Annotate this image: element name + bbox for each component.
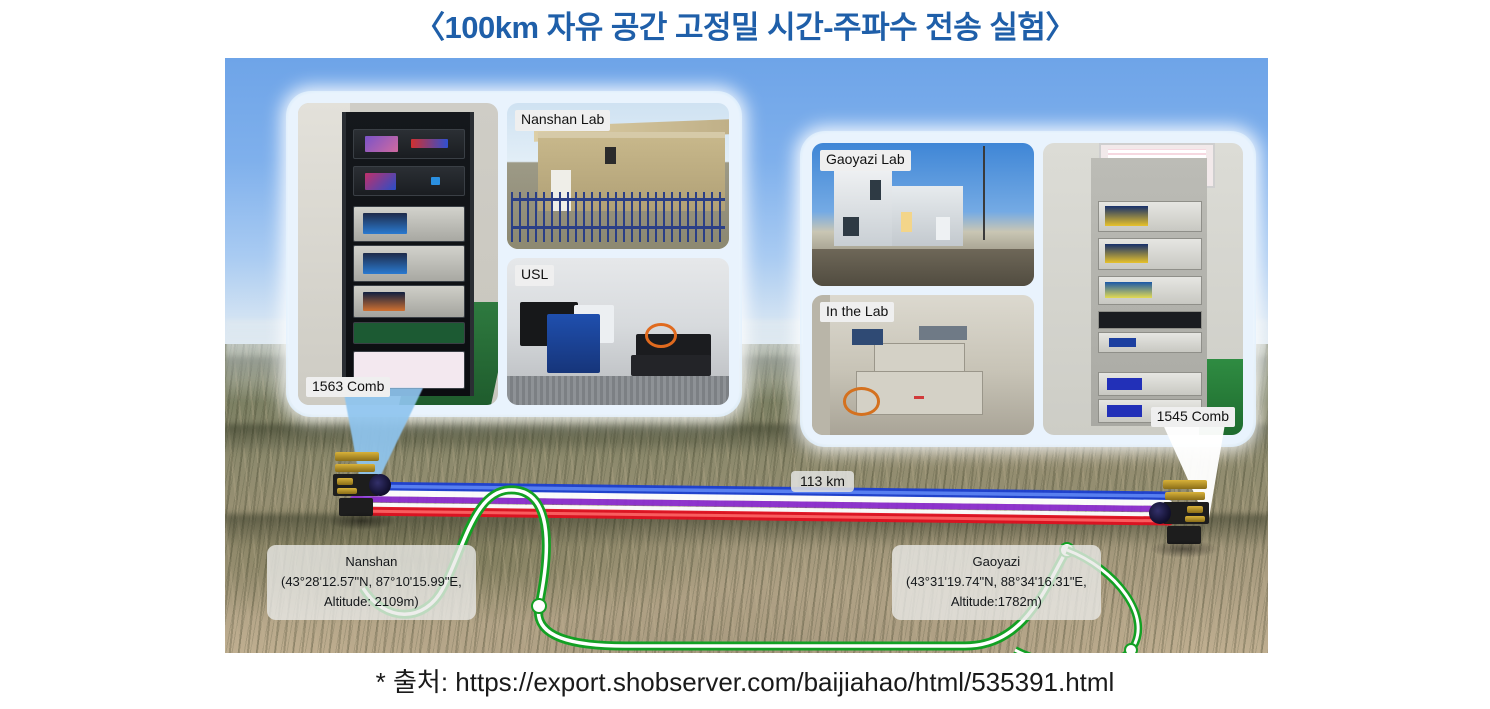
site-coordinates: (43°28'12.57"N, 87°10'15.99"E, [281,572,462,592]
site-altitude: Altitude: 2109m) [281,592,462,612]
site-coordinates: (43°31'19.74"N, 88°34'16.31"E, [906,572,1087,592]
experiment-figure: 113 km [225,58,1268,653]
nanshan-rack-column: 1563 Comb [298,103,498,405]
nanshan-site-column: Nanshan Lab USL [507,103,729,405]
gaoyazi-site-info: Gaoyazi (43°31'19.74"N, 88°34'16.31"E, A… [892,545,1101,620]
photo-rack-1545-comb[interactable]: 1545 Comb [1043,143,1243,435]
nanshan-site-info: Nanshan (43°28'12.57"N, 87°10'15.99"E, A… [267,545,476,620]
gaoyazi-callout-panel[interactable]: Gaoyazi Lab In the Lab [803,134,1253,444]
photo-label: 1545 Comb [1151,407,1235,428]
page-title: 〈100km 자유 공간 고정밀 시간-주파수 전송 실험〉 [0,2,1490,47]
photo-label: Nanshan Lab [515,110,610,131]
photo-in-the-lab[interactable]: In the Lab [812,295,1034,435]
photo-usl[interactable]: USL [507,258,729,405]
nanshan-callout-panel[interactable]: 1563 Comb Nanshan Lab [289,94,739,414]
photo-gaoyazi-lab[interactable]: Gaoyazi Lab [812,143,1034,286]
site-altitude: Altitude:1782m) [906,592,1087,612]
site-name: Gaoyazi [906,552,1087,572]
link-distance-label: 113 km [791,471,854,492]
gaoyazi-rack-column: 1545 Comb [1043,143,1243,435]
photo-nanshan-lab[interactable]: Nanshan Lab [507,103,729,249]
photo-label: Gaoyazi Lab [820,150,911,171]
site-name: Nanshan [281,552,462,572]
nanshan-terminal [333,448,387,522]
photo-label: In the Lab [820,302,894,323]
photo-rack-1563-comb[interactable]: 1563 Comb [298,103,498,405]
photo-label: USL [515,265,554,286]
gaoyazi-site-column: Gaoyazi Lab In the Lab [812,143,1034,435]
photo-label: 1563 Comb [306,377,390,398]
source-caption: * 출처: https://export.shobserver.com/baij… [0,662,1490,699]
gaoyazi-terminal [1155,476,1209,550]
